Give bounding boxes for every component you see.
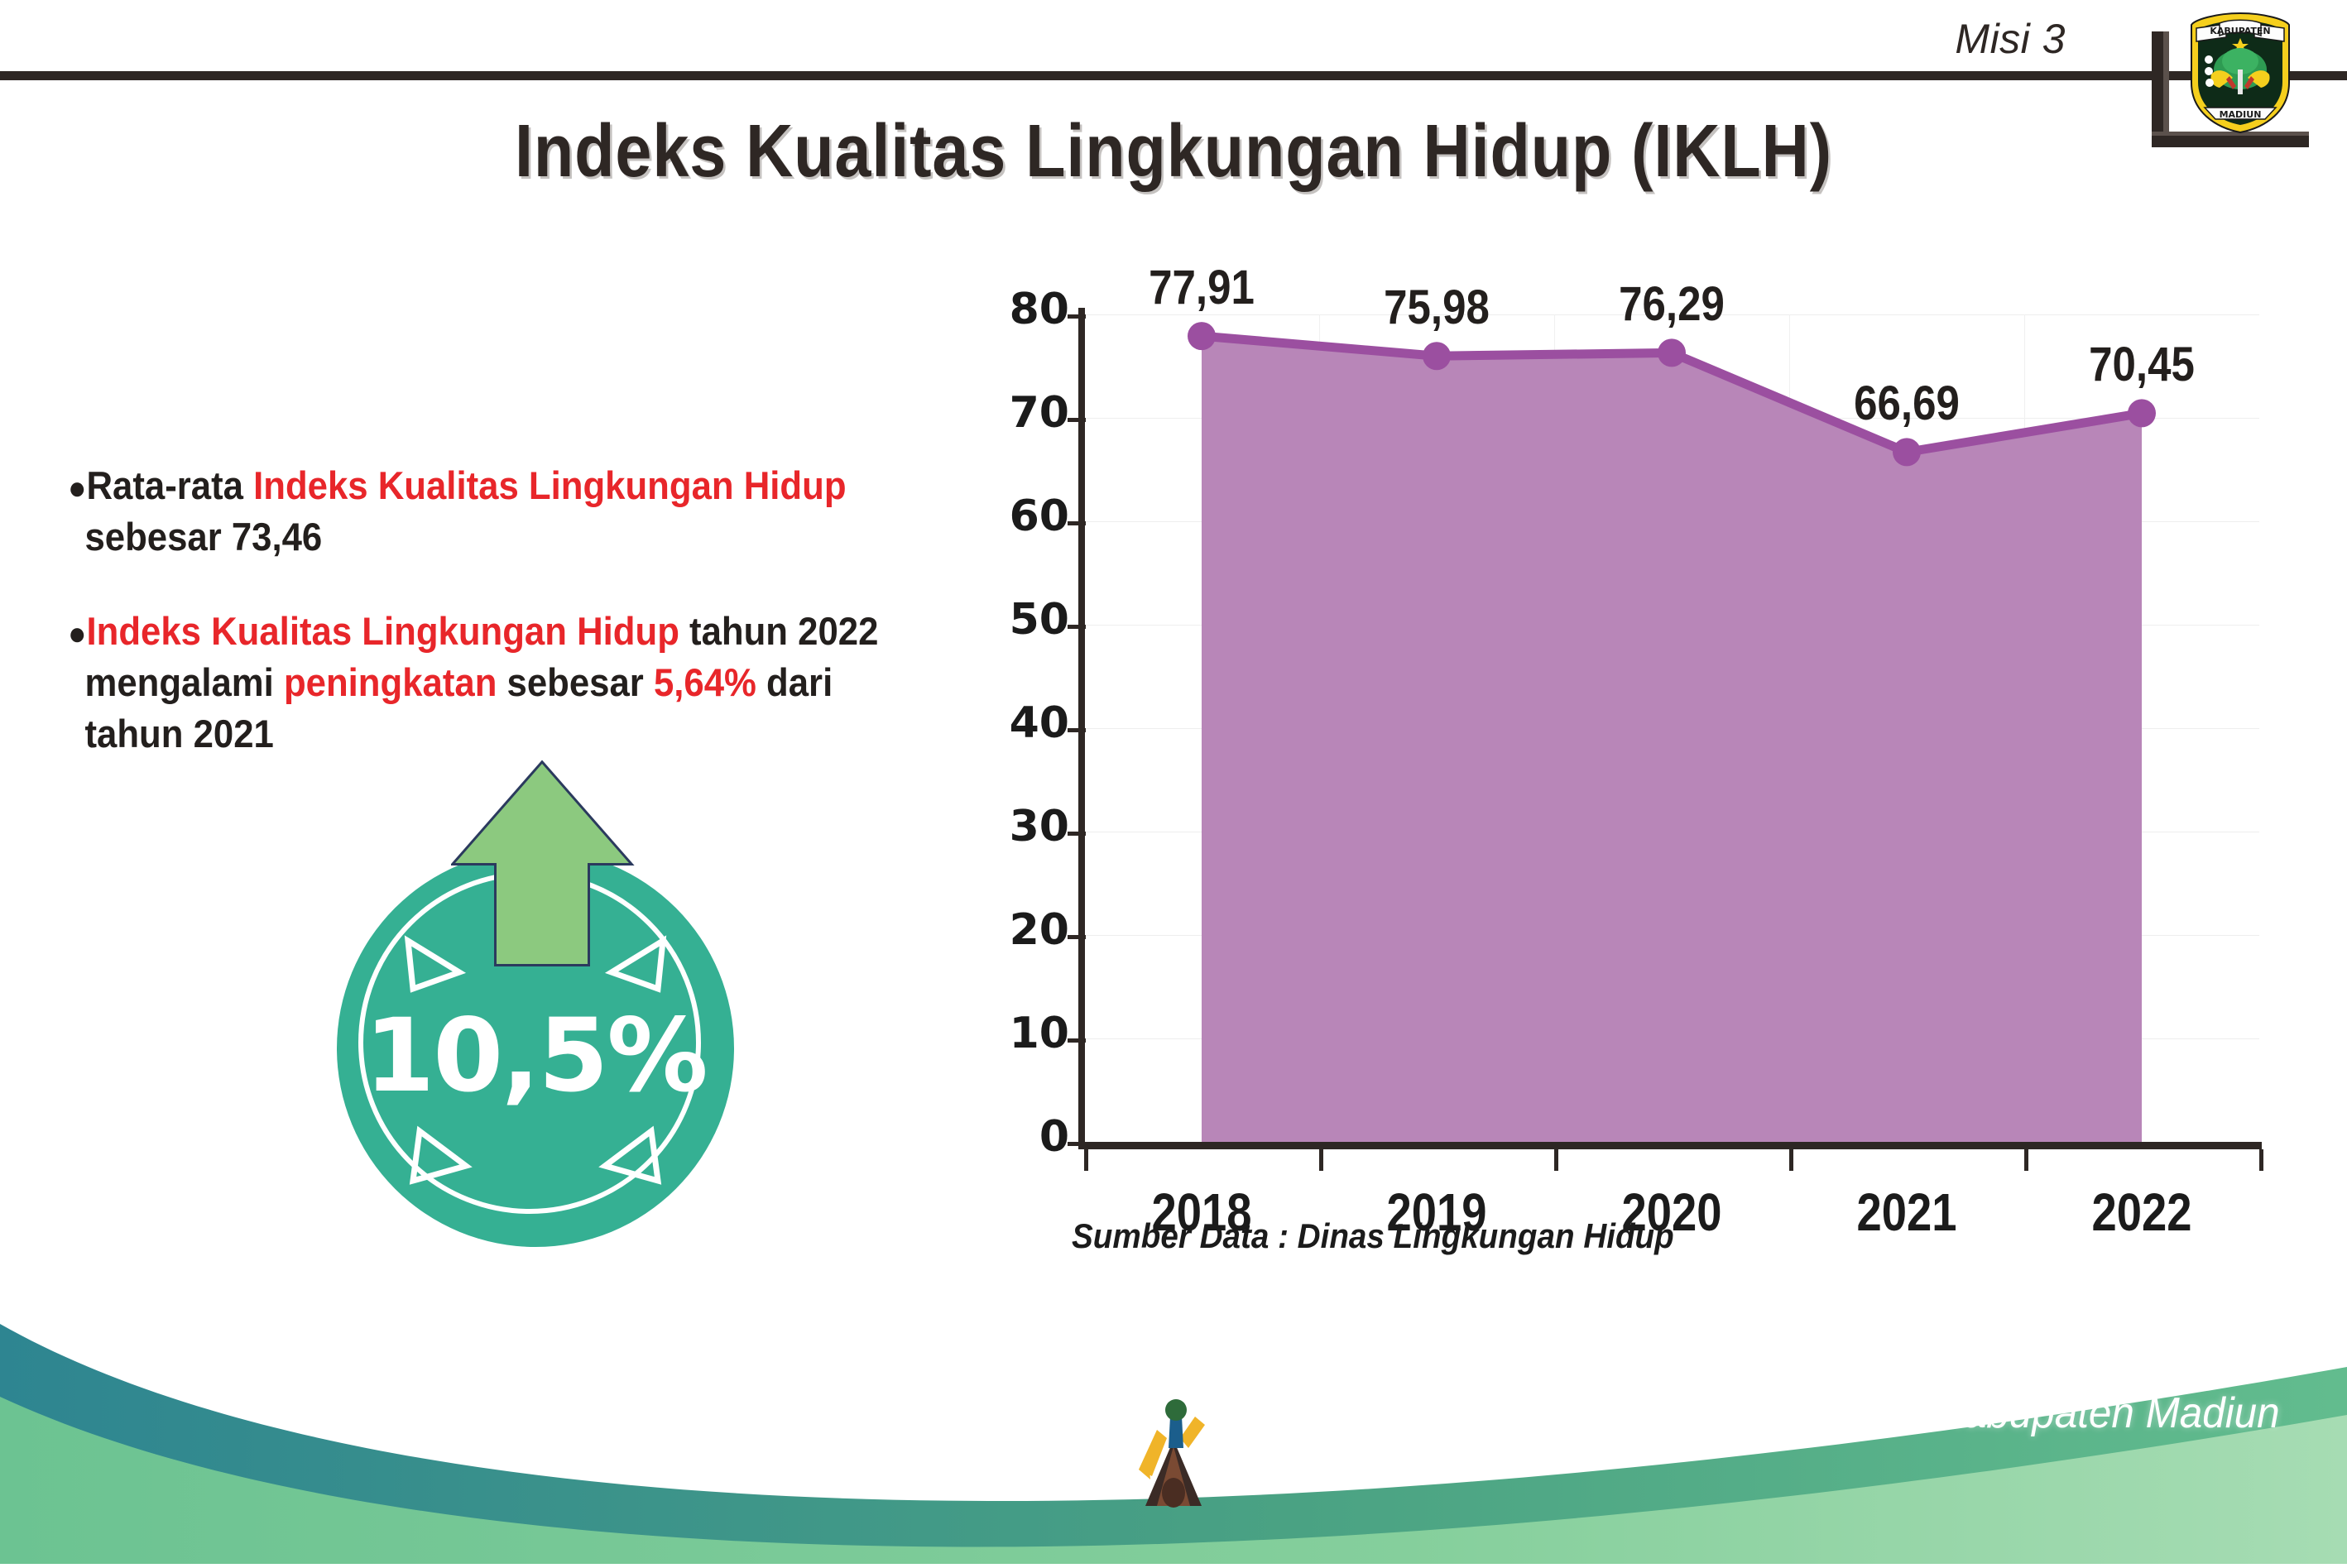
data-point-marker xyxy=(1423,342,1451,370)
y-axis-tick xyxy=(1068,728,1086,732)
x-axis-tick xyxy=(1319,1149,1323,1171)
y-axis-label: 30 xyxy=(970,802,1069,851)
data-point-marker xyxy=(1188,322,1216,350)
y-axis-label: 70 xyxy=(970,388,1069,438)
bullet2-text-0: Indeks Kualitas Lingkungan Hidup xyxy=(86,609,679,653)
y-axis-tick xyxy=(1068,1142,1086,1146)
y-axis-label: 0 xyxy=(970,1112,1069,1162)
mission-label: Misi 3 xyxy=(1955,15,2066,63)
x-axis-tick xyxy=(1789,1149,1793,1171)
bullet2-text-2: peningkatan xyxy=(284,660,497,704)
y-axis-tick xyxy=(1068,314,1086,319)
header-rule xyxy=(0,71,2347,80)
x-axis-tick xyxy=(2259,1149,2263,1171)
y-axis-label: 80 xyxy=(970,285,1069,334)
x-axis-line xyxy=(1078,1142,2262,1149)
y-axis-tick xyxy=(1068,1038,1086,1043)
data-label: 75,98 xyxy=(1342,280,1532,335)
increase-badge: 10,5% xyxy=(327,757,757,1204)
bullet-item: ●Rata-rata Indeks Kualitas Lingkungan Hi… xyxy=(68,460,907,563)
bullet-text-1: Indeks Kualitas Lingkungan Hidup xyxy=(253,463,846,507)
x-axis-label: 2022 xyxy=(2057,1182,2226,1243)
x-axis-tick xyxy=(1084,1149,1088,1171)
y-axis-label: 40 xyxy=(970,698,1069,748)
y-axis-label: 50 xyxy=(970,595,1069,645)
bullet-text-0: Rata-rata xyxy=(86,463,253,507)
data-label: 66,69 xyxy=(1812,376,2002,431)
x-axis-tick xyxy=(1554,1149,1558,1171)
y-axis-tick xyxy=(1068,625,1086,629)
area-series xyxy=(1084,314,2259,1142)
data-point-marker xyxy=(1893,438,1921,466)
footer-caption: Media Infografis Data Statistik Sektoral… xyxy=(1221,1388,2291,1488)
bullet-dot: ● xyxy=(68,616,86,652)
bullet2-text-3: sebesar xyxy=(497,660,654,704)
data-label: 77,91 xyxy=(1107,260,1297,315)
bullet-text-2: sebesar 73,46 xyxy=(84,515,322,559)
area-fill xyxy=(1202,336,2142,1142)
data-label: 76,29 xyxy=(1577,276,1767,332)
footer: Media Infografis Data Statistik Sektoral… xyxy=(0,1291,2347,1564)
summary-bullets: ●Rata-rata Indeks Kualitas Lingkungan Hi… xyxy=(68,460,907,803)
page-title: Indeks Kualitas Lingkungan Hidup (IKLH) xyxy=(141,109,2206,194)
y-axis-label: 10 xyxy=(970,1009,1069,1058)
data-point-marker xyxy=(1658,338,1686,367)
x-axis-tick xyxy=(2024,1149,2028,1171)
y-axis-tick xyxy=(1068,418,1086,422)
svg-text:KABUPATEN: KABUPATEN xyxy=(2210,26,2270,36)
bullet2-text-4: 5,64% xyxy=(654,660,756,704)
data-label: 70,45 xyxy=(2047,337,2237,392)
x-axis-label: 2021 xyxy=(1822,1182,1991,1243)
bps-figure-icon xyxy=(1134,1397,1213,1513)
iklh-area-chart: 010203040506070802018201920202021202277,… xyxy=(977,290,2268,1167)
badge-value: 10,5% xyxy=(337,997,734,1115)
y-axis-tick xyxy=(1068,935,1086,939)
y-axis-label: 20 xyxy=(970,905,1069,955)
source-note: Sumber Data : Dinas Lingkungan Hidup xyxy=(1072,1216,1674,1256)
y-axis-tick xyxy=(1068,521,1086,525)
bullet-item: ●Indeks Kualitas Lingkungan Hidup tahun … xyxy=(68,606,907,760)
svg-text:MADIUN: MADIUN xyxy=(2220,109,2262,120)
data-point-marker xyxy=(2128,399,2156,427)
bullet-dot: ● xyxy=(68,470,86,506)
y-axis-tick xyxy=(1068,832,1086,836)
y-axis-label: 60 xyxy=(970,491,1069,541)
